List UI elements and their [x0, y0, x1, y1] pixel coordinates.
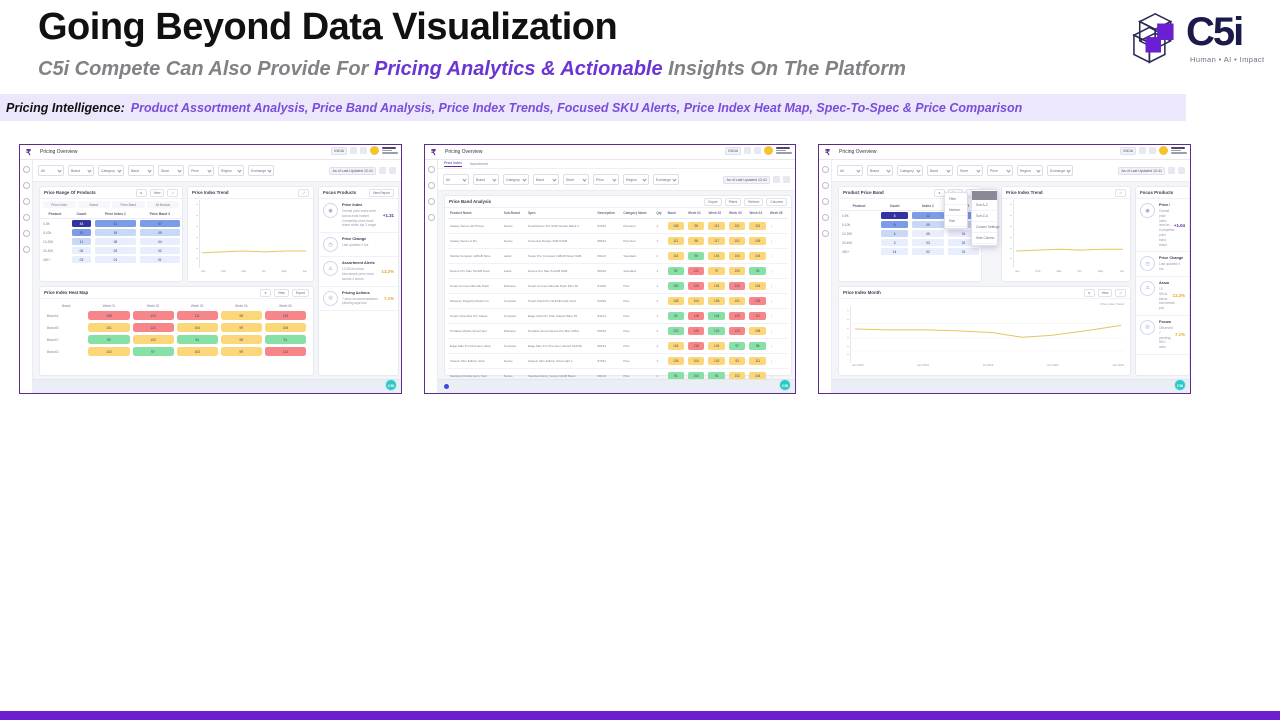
filter-region[interactable]: Region — [1017, 165, 1043, 176]
region-pill[interactable]: INDIA — [331, 147, 347, 155]
alert-title: Assortment Alerts — [342, 261, 378, 265]
filter-band[interactable]: Band — [128, 165, 154, 176]
filter-all[interactable]: All — [443, 174, 469, 185]
menu-item[interactable]: Column Settings — [972, 222, 997, 233]
matrix-cell[interactable]: 03 — [72, 256, 91, 263]
price-index-chip[interactable]: 97 — [729, 342, 745, 350]
price-index-chip[interactable]: 93 — [749, 267, 765, 275]
panel-title: Product Price Band — [843, 190, 884, 195]
table-row[interactable]: Device Pro Max 512GB Dual LabelDevice Pr… — [448, 264, 788, 279]
price-index-chip[interactable]: 112 — [708, 222, 724, 230]
matrix-cell[interactable]: 09 — [912, 221, 944, 228]
filter-exchange[interactable]: Exchange — [653, 174, 679, 185]
heatmap-cell[interactable]: 97 — [133, 347, 174, 356]
table-icon[interactable] — [23, 214, 30, 221]
row-menu-button[interactable]: ⋮ — [768, 279, 788, 294]
expand-button[interactable]: ⤢ — [167, 189, 178, 197]
tab-assortment[interactable]: Assortment — [470, 162, 488, 166]
table-cell: Wireless Flagship Model Go — [448, 294, 502, 309]
price-index-chip[interactable]: 104 — [708, 342, 724, 350]
matrix-cell[interactable]: 6 — [881, 221, 908, 228]
grid-icon[interactable] — [428, 182, 435, 189]
filter-exchange[interactable]: Exchange — [248, 165, 274, 176]
heatmap-cell[interactable]: 98 — [221, 335, 262, 344]
sort-button[interactable]: ⇅ — [1084, 289, 1095, 297]
heatmap-cell[interactable]: 106 — [265, 323, 306, 332]
alert-item[interactable]: ◷Price ChangeLast updated 4 hrs — [319, 233, 398, 257]
view-button[interactable]: View — [150, 189, 165, 197]
row-menu-button[interactable]: ⋮ — [768, 219, 788, 234]
matrix-cell[interactable]: 11 — [72, 238, 91, 245]
row-menu-button[interactable]: ⋮ — [768, 324, 788, 339]
home-icon[interactable] — [428, 166, 435, 173]
left-nav-rail[interactable] — [819, 160, 832, 393]
row-menu-button[interactable]: ⋮ — [768, 264, 788, 279]
chart-icon[interactable] — [23, 198, 30, 205]
filter-store[interactable]: Store — [957, 165, 983, 176]
grid-icon[interactable] — [822, 182, 829, 189]
heatmap-cell[interactable]: 111 — [177, 311, 218, 320]
matrix-col-header[interactable]: Price Band 2 — [138, 210, 182, 219]
table-row[interactable]: Smart Ultra Max Pro ClassiCompactEdge Ul… — [448, 309, 788, 324]
table-cell: Compact — [502, 339, 526, 354]
price-index-chip[interactable]: 102 — [708, 327, 724, 335]
matrix-cell[interactable]: 4 — [881, 230, 908, 237]
matrix-cell[interactable]: 07 — [140, 220, 180, 227]
column-menu[interactable]: Sort A-ZSort Z-AColumn SettingsHide Colu… — [971, 189, 998, 246]
price-index-chip[interactable]: 106 — [708, 297, 724, 305]
matrix-row-label: 10-20K — [839, 229, 879, 238]
matrix-cell[interactable]: 06 — [72, 247, 91, 254]
table-row[interactable]: Portable Mobile Smart SeriWirelessPortab… — [448, 324, 788, 339]
filter-brand[interactable]: Brand — [68, 165, 94, 176]
settings-icon[interactable] — [783, 176, 790, 183]
price-index-chip[interactable]: 101 — [729, 222, 745, 230]
heatmap-corner: Brand — [47, 304, 85, 308]
refresh-button[interactable]: Refresh — [744, 198, 763, 206]
table-col-header[interactable]: Spec — [526, 208, 596, 219]
price-index-chip[interactable]: 108 — [668, 297, 684, 305]
filter-region[interactable]: Region — [218, 165, 244, 176]
matrix-row: 5-10K311909 — [40, 228, 182, 237]
row-menu-button[interactable]: ⋮ — [768, 249, 788, 264]
table-col-header[interactable]: Week 01 — [686, 208, 706, 219]
panel-actions[interactable]: ⤢ — [1115, 189, 1126, 197]
heatmap-cell[interactable]: 114 — [265, 347, 306, 356]
matrix-subtab[interactable]: Brand — [78, 201, 111, 208]
price-index-chip[interactable]: 93 — [729, 357, 745, 365]
panel-title: Price Index Heat Map — [44, 290, 88, 295]
banner-items: Product Assortment Analysis, Price Band … — [125, 101, 1022, 115]
price-index-chip[interactable]: 120 — [729, 327, 745, 335]
panel-actions[interactable]: View Report — [369, 189, 394, 197]
heatmap-cell[interactable]: 113 — [133, 311, 174, 320]
heatmap-cell[interactable]: 102 — [88, 347, 129, 356]
view-button[interactable]: View — [274, 289, 289, 297]
matrix-header-row: ProductCountPrice Index 1Price Band 2 — [40, 210, 182, 219]
view-report-button[interactable]: View Report — [369, 189, 394, 197]
heatmap-cell[interactable]: 102 — [133, 335, 174, 344]
matrix-cell[interactable]: 09 — [140, 229, 180, 236]
filter-category[interactable]: Category — [98, 165, 124, 176]
price-index-trend-panel: Price Index Trend ⤢ JanFebMarAprMayJun — [1001, 186, 1131, 282]
slide-root: Going Beyond Data Visualization C5i Comp… — [0, 0, 1280, 720]
price-index-chip[interactable]: 94 — [668, 312, 684, 320]
matrix-cell[interactable]: 48 — [72, 220, 91, 227]
alert-item[interactable]: ◎Focused SKU AlertsObserved 7 pending SK… — [1136, 316, 1189, 355]
table-icon[interactable] — [822, 214, 829, 221]
export-button[interactable]: Export — [704, 198, 721, 206]
filter-brand[interactable]: Brand — [473, 174, 499, 185]
matrix-cell[interactable]: 19 — [95, 229, 136, 236]
matrix-subtabs[interactable]: Price IndexBrandPrice BandAll Brands — [40, 199, 182, 210]
matrix-cell[interactable]: 04 — [140, 238, 180, 245]
alert-item[interactable]: ◉Price IndexOverall price index level ac… — [1136, 199, 1189, 252]
sort-button[interactable]: ⇅ — [136, 189, 147, 197]
gear-icon[interactable] — [23, 246, 30, 253]
submenu-item[interactable]: Medium — [945, 205, 967, 216]
heatmap-cell[interactable]: 99 — [221, 347, 262, 356]
matrix-cell[interactable]: 8 — [881, 212, 908, 219]
filter-store[interactable]: Store — [563, 174, 589, 185]
heatmap-cell[interactable]: 91 — [265, 335, 306, 344]
region-pill[interactable]: INDIA — [1120, 147, 1136, 155]
matrix-row-label: 20-40K — [40, 246, 70, 255]
table-row[interactable]: Classic Slim Edition UltraSeriesClassic … — [448, 354, 788, 369]
focus-products-panel: Focus Products ◉Price IndexOverall price… — [1135, 186, 1190, 376]
alert-item[interactable]: ◎Pricing Actions7 price recommendations … — [319, 287, 398, 312]
price-index-chip[interactable]: 109 — [749, 237, 765, 245]
heatmap-cell[interactable]: 121 — [133, 323, 174, 332]
panel-actions[interactable]: ⇅ View Export — [260, 289, 309, 297]
matrix-cell[interactable]: 02 — [912, 248, 944, 255]
price-index-chip[interactable]: 104 — [749, 252, 765, 260]
heatmap-cell[interactable]: 101 — [88, 323, 129, 332]
matrix-col-header[interactable]: Index 1 — [910, 202, 946, 211]
screenshot-card-2[interactable]: ₹ Pricing Overview INDIA Price IndexAsso… — [424, 144, 796, 394]
row-menu-button[interactable]: ⋮ — [768, 354, 788, 369]
matrix-col-header[interactable]: Count — [879, 202, 910, 211]
table-icon[interactable] — [428, 214, 435, 221]
menu-item[interactable]: Sort A-Z — [972, 200, 997, 211]
matrix-cell[interactable]: 12 — [95, 220, 136, 227]
heatmap-row-label: Brand B — [47, 323, 85, 332]
heatmap-cell[interactable]: 99 — [221, 323, 262, 332]
matrix-col-header[interactable]: Product — [40, 210, 70, 219]
user-name-label — [776, 147, 792, 153]
table-col-header[interactable]: Week 04 — [747, 208, 767, 219]
column-submenu[interactable]: FilterMediumSize — [944, 192, 968, 229]
filter-price[interactable]: Price — [593, 174, 619, 185]
price-index-chip[interactable]: 98 — [688, 237, 704, 245]
matrix-col-header[interactable]: Count — [70, 210, 93, 219]
matrix-row: 10-20K110804 — [40, 237, 182, 246]
price-index-chip[interactable]: 96 — [688, 252, 704, 260]
download-icon[interactable] — [379, 167, 386, 174]
matrix-row: 20-40K30302 — [839, 238, 981, 247]
filter-price[interactable]: Price — [987, 165, 1013, 176]
line-chart: JanFebMarAprMayJun — [192, 200, 309, 277]
filter-category[interactable]: Category — [503, 174, 529, 185]
matrix-cell[interactable]: 02 — [140, 247, 180, 254]
alert-text: Last updated 4 hrs — [1159, 262, 1185, 272]
table-col-header[interactable]: Category Name — [621, 208, 654, 219]
price-index-chip[interactable]: 98 — [688, 222, 704, 230]
table-cell: Plus — [621, 279, 654, 294]
columns-button[interactable]: Columns — [766, 198, 787, 206]
page-subtitle: C5i Compete Can Also Provide For Pricing… — [38, 58, 906, 81]
table-row[interactable]: Edge Max Pro Premium VariaCompactEdge Ma… — [448, 339, 788, 354]
table-cell: Premium — [621, 234, 654, 249]
matrix-cell[interactable]: 01 — [948, 248, 979, 255]
table-col-header[interactable]: Band — [666, 208, 686, 219]
matrix-cell[interactable]: 03 — [95, 247, 136, 254]
heatmap-cell[interactable]: 108 — [88, 311, 129, 320]
table-cell: 1 — [654, 339, 665, 354]
panel-actions[interactable]: ⇅ View ⤢ — [1084, 289, 1126, 297]
filter-all[interactable]: All — [38, 165, 64, 176]
logo-wordmark: C5i — [1186, 11, 1242, 53]
heatmap-row: Brand B10112110499106 — [47, 323, 306, 332]
price-index-chip[interactable]: 111 — [749, 312, 765, 320]
row-menu-button[interactable]: ⋮ — [768, 294, 788, 309]
price-index-chip[interactable]: 125 — [729, 312, 745, 320]
matrix-cell[interactable]: 3 — [881, 239, 908, 246]
matrix-cell[interactable]: 31 — [72, 229, 91, 236]
matrix-row-label: 40K+ — [839, 247, 879, 256]
table-col-header[interactable]: Sub Brand — [502, 208, 526, 219]
table-row[interactable]: Smart Connect Bundle Pack WirelessSmart … — [448, 279, 788, 294]
matrix-cell[interactable]: 08 — [95, 238, 136, 245]
settings-icon[interactable] — [1178, 167, 1185, 174]
filter-bar[interactable]: AllBrandCategoryBandStorePriceRegionExch… — [438, 169, 795, 191]
table-col-header[interactable]: Product Name — [448, 208, 502, 219]
home-icon[interactable] — [822, 166, 829, 173]
submenu-item[interactable]: Filter — [945, 194, 967, 205]
panel-actions[interactable]: ⤢ — [298, 189, 309, 197]
panel-actions[interactable]: ExportFiltersRefreshColumns — [704, 198, 787, 206]
submenu-item[interactable]: Size — [945, 216, 967, 227]
alert-value: +1.04 — [1174, 223, 1185, 228]
price-index-chip[interactable]: 97 — [708, 267, 724, 275]
table-col-header[interactable]: Qty — [654, 208, 665, 219]
x-tick-label: Jun — [1119, 269, 1124, 277]
price-index-chip[interactable]: 101 — [729, 297, 745, 305]
export-button[interactable]: Export — [292, 289, 309, 297]
price-index-chip[interactable]: 125 — [688, 282, 704, 290]
bell-icon[interactable] — [754, 147, 761, 154]
filter-button[interactable]: ⇅ — [260, 289, 271, 297]
price-index-chip[interactable]: 100 — [668, 282, 684, 290]
table-col-header[interactable]: Week 05 — [768, 208, 788, 219]
table-row[interactable]: Galaxy Series 4G PhoneSeriesSmartphone P… — [448, 219, 788, 234]
price-index-chip[interactable]: 102 — [668, 327, 684, 335]
matrix-cell[interactable]: 01 — [95, 256, 136, 263]
panel-title: Focus Products — [1140, 190, 1173, 195]
price-index-chip[interactable]: 117 — [708, 237, 724, 245]
bell-icon[interactable] — [1149, 147, 1156, 154]
price-index-chip[interactable]: 126 — [749, 297, 765, 305]
download-icon[interactable] — [773, 176, 780, 183]
table-row[interactable]: Wireless Flagship Model GoCompactSmart F… — [448, 294, 788, 309]
refresh-icon[interactable] — [350, 147, 357, 154]
app-window-3: ₹ Pricing Overview INDIA AllBrandCategor… — [819, 145, 1190, 393]
price-index-chip[interactable]: 104 — [749, 282, 765, 290]
table-row[interactable]: Mobile Compact 128GB SilveLabelSuper Pro… — [448, 249, 788, 264]
grid-icon[interactable] — [23, 182, 30, 189]
filter-price[interactable]: Price — [188, 165, 214, 176]
heatmap-cell[interactable]: 94 — [177, 335, 218, 344]
price-index-chip[interactable]: 125 — [729, 282, 745, 290]
left-nav-rail[interactable] — [20, 160, 33, 393]
filter-category[interactable]: Category — [897, 165, 923, 176]
alert-item[interactable]: ◉Price IndexOverall price index level ac… — [319, 199, 398, 233]
alert-item[interactable]: ⚠Assortment Alerts13 SKUs below benchmar… — [319, 257, 398, 286]
alert-text: 13 SKUs below benchmark pric — [1159, 287, 1169, 311]
filter-bar[interactable]: AllBrandCategoryBandStorePriceRegionExch… — [33, 160, 401, 182]
tab-price-index[interactable]: Price Index — [444, 161, 462, 167]
app-title: Pricing Overview — [839, 149, 877, 155]
matrix-subtab[interactable]: Price Band — [112, 201, 145, 208]
subtitle-highlight: Pricing Analytics & Actionable — [374, 58, 663, 80]
price-index-chip[interactable]: 113 — [749, 222, 765, 230]
filter-band[interactable]: Band — [927, 165, 953, 176]
matrix-subtab[interactable]: All Brands — [147, 201, 180, 208]
matrix-subtab[interactable]: Price Index — [43, 201, 76, 208]
alert-item[interactable]: ◷Price ChangeLast updated 4 hrs — [1136, 252, 1189, 277]
matrix-col-header[interactable]: Product — [839, 202, 879, 211]
region-pill[interactable]: INDIA — [725, 147, 741, 155]
heatmap-table: BrandWeek 01Week 02Week 03Week 04Week 05… — [40, 299, 313, 361]
heatmap-row-label: Brand D — [47, 347, 85, 356]
chart-icon[interactable] — [428, 198, 435, 205]
table-col-header[interactable]: Week 02 — [706, 208, 726, 219]
screenshot-card-1[interactable]: ₹ Pricing Overview INDIA AllBrandCate — [19, 144, 402, 394]
heatmap-cell[interactable]: 104 — [177, 323, 218, 332]
price-index-chip[interactable]: 111 — [668, 237, 684, 245]
filters-button[interactable]: Filters — [725, 198, 742, 206]
expand-button[interactable]: ⤢ — [1115, 289, 1126, 297]
filter-exchange[interactable]: Exchange — [1047, 165, 1073, 176]
filter-bar[interactable]: AllBrandCategoryBandStorePriceRegionExch… — [832, 160, 1190, 182]
price-index-chip[interactable]: 118 — [688, 342, 704, 350]
refresh-icon[interactable] — [1139, 147, 1146, 154]
view-button[interactable]: View — [1098, 289, 1113, 297]
price-index-chip[interactable]: 111 — [749, 357, 765, 365]
price-index-chip[interactable]: 98 — [749, 342, 765, 350]
alert-title: Assortment Alerts — [1159, 281, 1169, 285]
table-cell: Compact — [502, 294, 526, 309]
row-menu-button[interactable]: ⋮ — [768, 309, 788, 324]
matrix-cell[interactable]: 03 — [912, 239, 944, 246]
heatmap-cell[interactable]: 119 — [265, 311, 306, 320]
chart-icon[interactable] — [822, 198, 829, 205]
settings-icon[interactable] — [389, 167, 396, 174]
home-icon[interactable] — [23, 166, 30, 173]
avatar[interactable] — [370, 146, 379, 155]
heatmap-cell[interactable]: 103 — [177, 347, 218, 356]
table-cell: Compact — [502, 309, 526, 324]
matrix-col-header[interactable]: Price Index 1 — [93, 210, 138, 219]
table-cell: 85512 — [595, 324, 621, 339]
table-scroll[interactable]: Product NameSub BrandSpecDescriptionCate… — [445, 208, 791, 384]
menu-item[interactable]: Sort Z-A — [972, 211, 997, 222]
heatmap-col-header: Week 05 — [265, 304, 306, 308]
expand-button[interactable]: ⤢ — [298, 189, 309, 197]
filter-region[interactable]: Region — [623, 174, 649, 185]
row-menu-button[interactable]: ⋮ — [768, 234, 788, 249]
screenshot-card-3[interactable]: ₹ Pricing Overview INDIA AllBrandCategor… — [818, 144, 1191, 394]
price-index-chip[interactable]: 104 — [668, 342, 684, 350]
tab-bar[interactable]: Price IndexAssortment — [438, 160, 795, 169]
table-cell: Plus — [621, 354, 654, 369]
refresh-icon[interactable] — [744, 147, 751, 154]
logo-tagline: Human • AI • Impact — [1190, 55, 1265, 64]
table-row[interactable]: Galaxy Series A 5GSeriesUniversal Design… — [448, 234, 788, 249]
heatmap-cell[interactable]: 98 — [221, 311, 262, 320]
price-index-chip[interactable]: 108 — [749, 327, 765, 335]
filter-band[interactable]: Band — [533, 174, 559, 185]
left-nav-rail[interactable] — [425, 160, 438, 393]
table-col-header[interactable]: Description — [595, 208, 621, 219]
filter-all[interactable]: All — [837, 165, 863, 176]
panel-actions[interactable]: ⇅ View ⤢ — [136, 189, 178, 197]
price-index-chip[interactable]: 92 — [668, 267, 684, 275]
avatar[interactable] — [1159, 146, 1168, 155]
filter-store[interactable]: Store — [158, 165, 184, 176]
expand-button[interactable]: ⤢ — [1115, 189, 1126, 197]
price-index-chip[interactable]: 101 — [729, 237, 745, 245]
heatmap-col-header: Week 02 — [133, 304, 174, 308]
bell-icon[interactable] — [360, 147, 367, 154]
matrix-cell[interactable]: 05 — [912, 230, 944, 237]
matrix-cell[interactable]: 01 — [140, 256, 180, 263]
table-col-header[interactable]: Week 03 — [727, 208, 747, 219]
download-icon[interactable] — [1168, 167, 1175, 174]
price-index-chip[interactable]: 104 — [688, 297, 704, 305]
row-menu-button[interactable]: ⋮ — [768, 339, 788, 354]
price-index-chip[interactable]: 114 — [668, 252, 684, 260]
compare-icon[interactable] — [23, 230, 30, 237]
matrix-row-label: 5-10K — [839, 220, 879, 229]
gear-icon[interactable] — [822, 230, 829, 237]
price-index-chip[interactable]: 104 — [708, 312, 724, 320]
matrix-cell[interactable]: 12 — [912, 212, 944, 219]
price-index-chip[interactable]: 104 — [688, 357, 704, 365]
price-index-chip[interactable]: 126 — [668, 357, 684, 365]
x-tick-label: Feb — [221, 269, 226, 277]
price-index-chip[interactable]: 108 — [668, 222, 684, 230]
price-index-chip[interactable]: 104 — [729, 252, 745, 260]
table-cell: 86214 — [595, 339, 621, 354]
alert-title: Price Change — [1159, 256, 1185, 260]
matrix-cell[interactable]: 14 — [881, 248, 908, 255]
price-index-chip[interactable]: 122 — [688, 267, 704, 275]
price-index-chip[interactable]: 104 — [708, 282, 724, 290]
price-index-chip[interactable]: 104 — [708, 252, 724, 260]
price-index-chip[interactable]: 105 — [729, 267, 745, 275]
price-index-chip[interactable]: 102 — [708, 357, 724, 365]
price-index-chip[interactable]: 118 — [688, 312, 704, 320]
alert-item[interactable]: ⚠Assortment Alerts13 SKUs below benchmar… — [1136, 277, 1189, 316]
avatar[interactable] — [764, 146, 773, 155]
heatmap-cell[interactable]: 92 — [88, 335, 129, 344]
filter-brand[interactable]: Brand — [867, 165, 893, 176]
price-index-chip[interactable]: 126 — [688, 327, 704, 335]
menu-item[interactable]: Hide Column — [972, 233, 997, 244]
table-cell: 88422 — [595, 264, 621, 279]
matrix-row-label: 0-5K — [839, 211, 879, 221]
